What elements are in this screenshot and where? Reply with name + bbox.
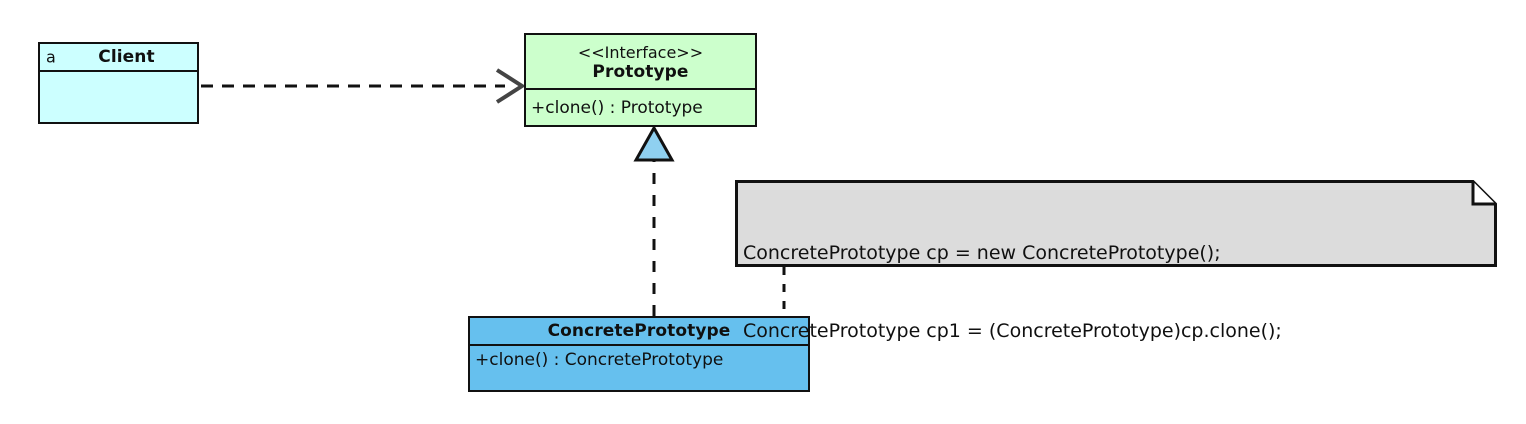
note-code-line-1: ConcretePrototype cp = new ConcreteProto… [743, 240, 1497, 266]
note-text-block: ConcretePrototype cp = new ConcreteProto… [735, 180, 1497, 396]
class-box-prototype[interactable]: <<Interface>> Prototype +clone() : Proto… [524, 33, 757, 127]
hollow-triangle-head-icon [636, 128, 672, 160]
prototype-operations-compartment: +clone() : Prototype [526, 90, 755, 125]
client-body-compartment [40, 72, 197, 122]
note-code-line-2: ConcretePrototype cp1 = (ConcretePrototy… [743, 318, 1497, 344]
class-box-client[interactable]: a Client [38, 42, 199, 124]
prototype-stereotype: <<Interface>> [526, 43, 755, 62]
client-name-compartment: a Client [40, 44, 197, 72]
uml-diagram-canvas: a Client <<Interface>> Prototype +clone(… [0, 0, 1526, 424]
client-class-name: Client [40, 47, 197, 67]
prototype-operation-clone: +clone() : Prototype [526, 98, 755, 118]
prototype-class-name: Prototype [526, 62, 755, 82]
object-instance-marker: a [46, 48, 56, 67]
code-note[interactable]: ConcretePrototype cp = new ConcreteProto… [735, 180, 1497, 267]
prototype-name-compartment: <<Interface>> Prototype [526, 35, 755, 90]
connector-concrete-to-prototype-realization[interactable] [636, 128, 672, 316]
connector-client-to-prototype-dependency[interactable] [201, 70, 522, 102]
